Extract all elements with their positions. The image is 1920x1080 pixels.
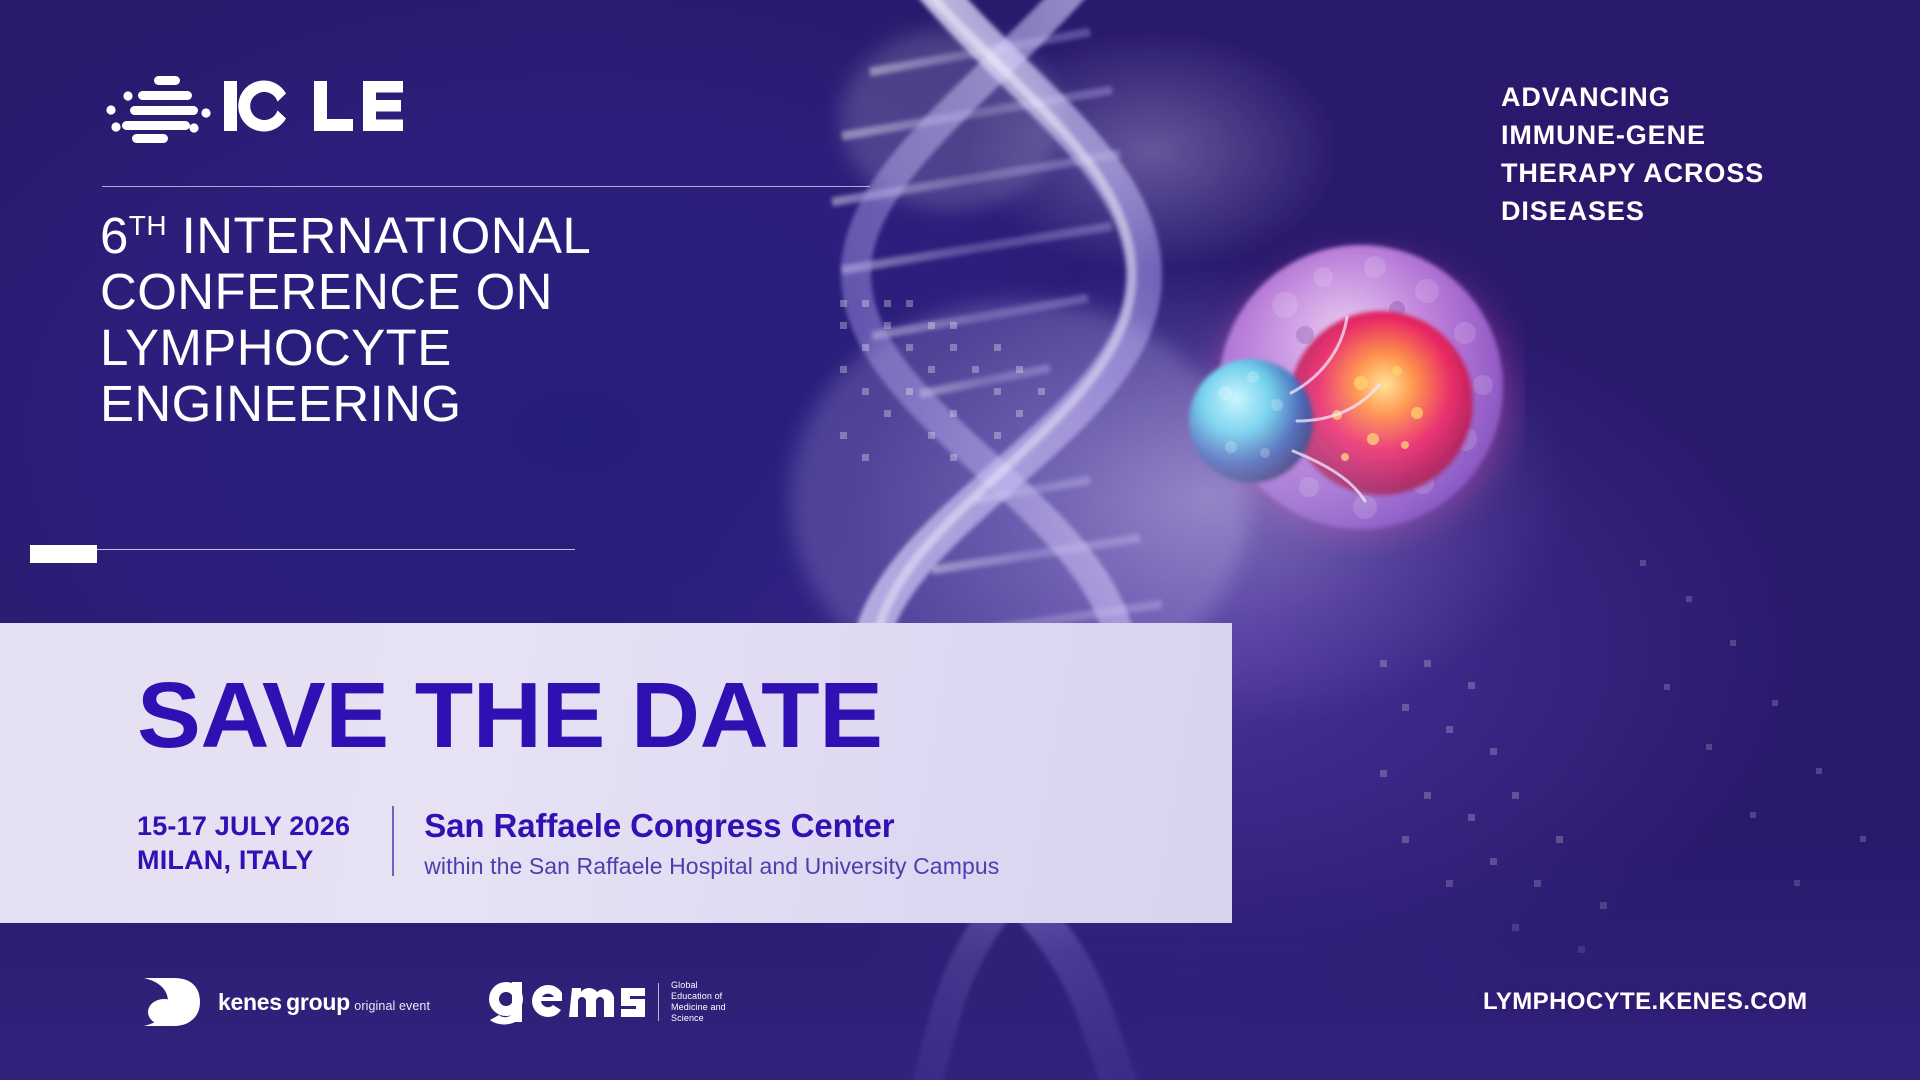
gems-subtitle: Global Education of Medicine and Science [671,980,726,1024]
kenes-name-line-1: kenes [218,989,282,1015]
conference-title-line-1: 6TH INTERNATIONAL [100,208,820,264]
conference-title-word-1: INTERNATIONAL [182,207,591,264]
icle-logo[interactable] [102,72,882,144]
kenes-tagline: original event [354,999,430,1013]
edition-number: 6 [100,207,129,264]
kenes-wordmark: kenes group original event [218,990,430,1015]
gems-sub-line-3: Medicine and [671,1002,726,1013]
kenes-leaf-icon [140,972,204,1032]
edition-ordinal: TH [129,210,167,241]
venue-subtitle: within the San Raffaele Hospital and Uni… [424,850,999,882]
tagline-line-2: IMMUNE-GENE [1501,116,1861,154]
conference-title: 6TH INTERNATIONAL CONFERENCE ON LYMPHOCY… [100,208,820,432]
title-accent-rule [30,549,575,550]
venue-name: San Raffaele Congress Center [424,806,999,846]
event-date-location: 15-17 JULY 2026 MILAN, ITALY [137,806,350,877]
gems-wordmark-icon [476,976,646,1028]
details-vertical-divider [392,806,394,876]
icle-wordmark [222,75,407,142]
event-city: MILAN, ITALY [137,843,350,877]
gems-sub-line-1: Global [671,980,726,991]
tagline-line-3: THERAPY ACROSS [1501,154,1861,192]
tagline-line-1: ADVANCING [1501,78,1861,116]
conference-tagline: ADVANCING IMMUNE-GENE THERAPY ACROSS DIS… [1501,78,1861,230]
event-details-row: 15-17 JULY 2026 MILAN, ITALY San Raffael… [137,806,999,882]
icle-dna-bars-mark [102,72,214,144]
event-date: 15-17 JULY 2026 [137,809,350,843]
conference-title-line-3: LYMPHOCYTE [100,320,820,376]
gems-logo[interactable]: Global Education of Medicine and Science [476,976,726,1028]
logo-divider-rule [102,186,870,187]
save-the-date-poster: 6TH INTERNATIONAL CONFERENCE ON LYMPHOCY… [0,0,1920,1080]
kenes-name-line-2: group [286,989,350,1015]
title-accent-block [30,545,97,563]
event-venue: San Raffaele Congress Center within the … [424,806,999,882]
gems-divider-rule [658,983,659,1021]
kenes-group-logo[interactable]: kenes group original event [140,972,430,1032]
footer-logos: kenes group original event [140,972,726,1032]
gems-sub-line-4: Science [671,1013,726,1024]
conference-title-line-4: ENGINEERING [100,376,820,432]
tagline-line-4: DISEASES [1501,192,1861,230]
gems-sub-line-2: Education of [671,991,726,1002]
website-url[interactable]: LYMPHOCYTE.KENES.COM [1483,988,1808,1016]
save-the-date-panel: SAVE THE DATE 15-17 JULY 2026 MILAN, ITA… [0,623,1232,923]
conference-title-line-2: CONFERENCE ON [100,264,820,320]
save-the-date-headline: SAVE THE DATE [137,667,883,763]
